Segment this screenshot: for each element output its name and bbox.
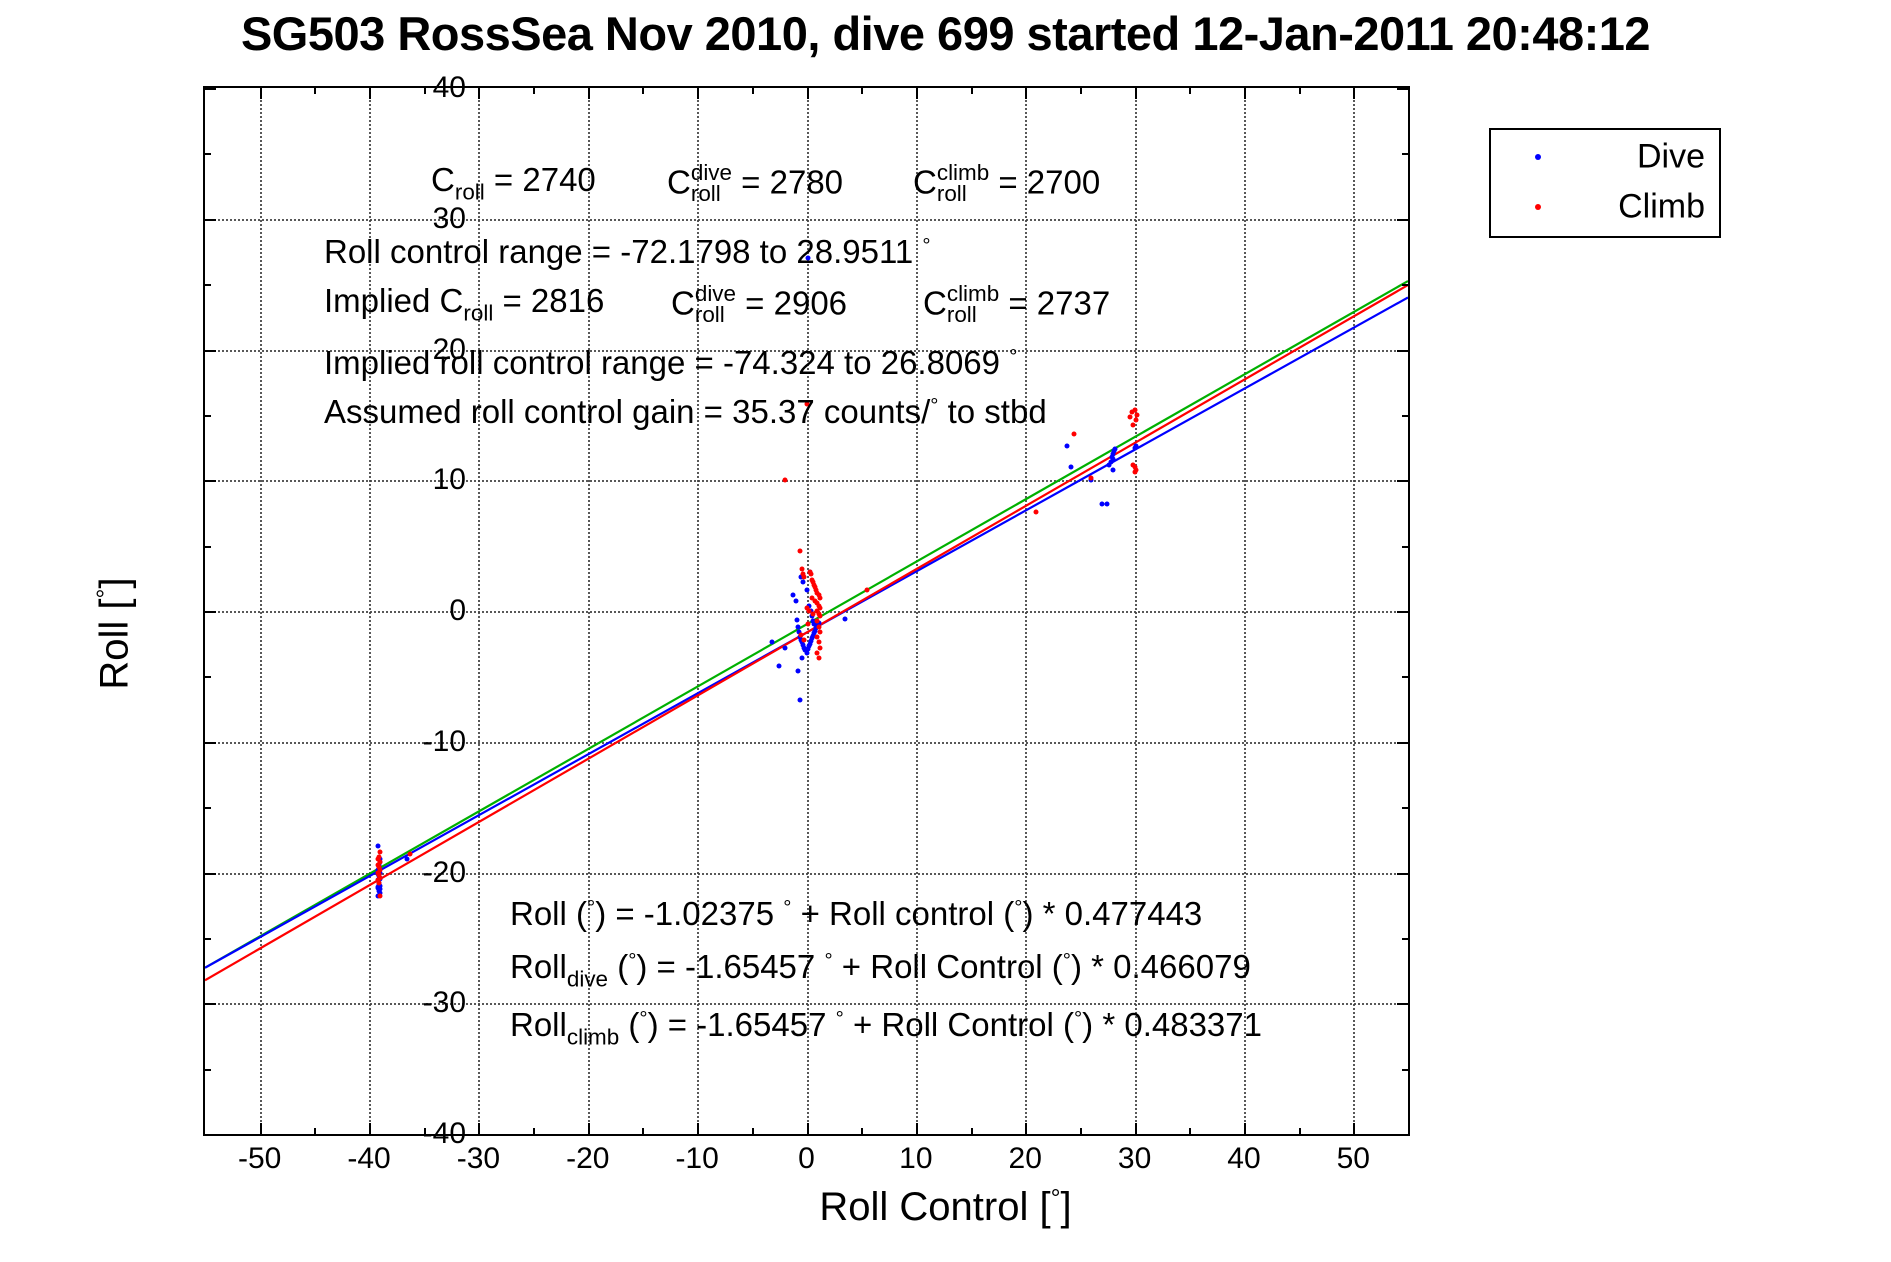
- x-axis-tick: [1244, 1123, 1246, 1134]
- data-point-dive: [1133, 444, 1138, 449]
- x-axis-tick: [697, 1123, 699, 1134]
- x-axis-tick: [807, 88, 809, 99]
- data-point-climb: [816, 656, 821, 661]
- eq-all-deg1: °: [587, 896, 595, 919]
- x-axis-minor-tick: [1080, 88, 1082, 94]
- x-axis-tick: [916, 88, 918, 99]
- y-axis-minor-tick: [205, 676, 211, 678]
- y-axis-tick: [1397, 350, 1408, 352]
- y-axis-label-text: Roll [: [93, 598, 137, 689]
- implied-c-climb-subscript: roll: [947, 304, 999, 327]
- implied-c-value: = 2816: [493, 282, 604, 319]
- implied-c-dive-subscript: roll: [695, 304, 736, 327]
- data-point-climb: [1072, 432, 1077, 437]
- c-roll-dive-symbol: C: [667, 164, 691, 201]
- annotation-c-roll: Croll = 2740: [431, 163, 596, 204]
- x-axis-minor-tick: [1189, 88, 1191, 94]
- data-point-dive: [793, 598, 798, 603]
- y-axis-tick: [205, 1003, 216, 1005]
- x-axis-tick: [260, 88, 262, 99]
- x-axis-tick: [369, 1123, 371, 1134]
- data-point-dive: [795, 669, 800, 674]
- data-point-dive: [782, 645, 787, 650]
- data-point-climb: [1131, 423, 1136, 428]
- y-axis-tick-label: -10: [423, 725, 466, 759]
- y-axis-minor-tick: [205, 153, 211, 155]
- annotation-equation-all: Roll (°) = -1.02375 ° + Roll control (°)…: [510, 897, 1202, 930]
- x-axis-label-close: ]: [1061, 1185, 1072, 1229]
- gain-text-suffix: to stbd: [938, 393, 1046, 430]
- eq-dive-subscript: dive: [567, 967, 608, 992]
- c-roll-climb-value: = 2700: [989, 164, 1100, 201]
- y-axis-tick: [205, 611, 216, 613]
- eq-dive-d: + Roll Control (: [833, 948, 1063, 985]
- data-point-dive: [377, 887, 382, 892]
- x-axis-minor-tick: [861, 1128, 863, 1134]
- data-point-dive: [1110, 457, 1115, 462]
- legend-label-climb: Climb: [1618, 188, 1705, 227]
- x-axis-tick: [1353, 88, 1355, 99]
- data-point-climb: [1034, 509, 1039, 514]
- c-roll-dive-subscript: roll: [691, 183, 732, 206]
- x-axis-minor-tick: [1299, 1128, 1301, 1134]
- eq-dive-deg2: °: [824, 949, 832, 972]
- x-axis-tick-label: 20: [1009, 1142, 1042, 1176]
- x-axis-tick: [697, 88, 699, 99]
- x-axis-tick: [1135, 88, 1137, 99]
- eq-climb-b: (: [619, 1006, 639, 1043]
- annotation-c-roll-climb: Cclimbroll = 2700: [913, 163, 1100, 207]
- eq-climb-deg2: °: [836, 1007, 844, 1030]
- y-axis-minor-tick: [1402, 676, 1408, 678]
- legend-marker-climb-icon: [1535, 204, 1541, 210]
- x-axis-label: Roll Control [°]: [0, 1185, 1891, 1230]
- implied-c-climb-value: = 2737: [999, 285, 1110, 322]
- x-axis-minor-tick: [1080, 1128, 1082, 1134]
- data-point-climb: [813, 598, 818, 603]
- data-point-climb: [376, 871, 381, 876]
- c-roll-symbol: C: [431, 161, 455, 198]
- annotation-roll-control-range: Roll control range = -72.1798 to 28.9511…: [324, 235, 931, 268]
- x-axis-minor-tick: [1299, 88, 1301, 94]
- y-axis-tick: [205, 873, 216, 875]
- x-axis-tick: [1353, 1123, 1355, 1134]
- y-axis-minor-tick: [1402, 546, 1408, 548]
- x-axis-tick: [588, 1123, 590, 1134]
- x-axis-tick-label: -30: [457, 1142, 500, 1176]
- plot-area: Croll = 2740 Cdiveroll = 2780 Cclimbroll…: [203, 86, 1410, 1136]
- x-axis-minor-tick: [314, 1128, 316, 1134]
- y-axis-tick-label: -20: [423, 856, 466, 890]
- data-point-dive: [1110, 467, 1115, 472]
- c-roll-climb-symbol: C: [913, 164, 937, 201]
- y-axis-minor-tick: [205, 284, 211, 286]
- data-point-climb: [805, 622, 810, 627]
- implied-c-dive-symbol: C: [671, 285, 695, 322]
- c-roll-value: = 2740: [485, 161, 596, 198]
- eq-dive-deg3: °: [1063, 949, 1071, 972]
- eq-climb-subscript: climb: [567, 1025, 619, 1050]
- x-axis-minor-tick: [533, 1128, 535, 1134]
- data-point-climb: [799, 632, 804, 637]
- x-axis-tick: [478, 88, 480, 99]
- implied-c-prefix: Implied C: [324, 282, 463, 319]
- data-point-climb: [782, 478, 787, 483]
- y-axis-minor-tick: [1402, 284, 1408, 286]
- x-axis-minor-tick: [861, 88, 863, 94]
- legend-item-climb[interactable]: Climb: [1491, 184, 1719, 230]
- implied-c-dive-script: diveroll: [695, 283, 736, 327]
- annotation-gain: Assumed roll control gain = 35.37 counts…: [324, 395, 1047, 428]
- plot-inner: Croll = 2740 Cdiveroll = 2780 Cclimbroll…: [205, 88, 1408, 1134]
- data-point-climb: [1133, 418, 1138, 423]
- eq-climb-c: ) = -1.65457: [648, 1006, 836, 1043]
- data-point-dive: [769, 640, 774, 645]
- x-axis-minor-tick: [533, 88, 535, 94]
- eq-climb-a: Roll: [510, 1006, 567, 1043]
- eq-all-a: Roll (: [510, 895, 587, 932]
- y-axis-minor-tick: [1402, 415, 1408, 417]
- y-axis-tick: [205, 742, 216, 744]
- y-axis-tick: [205, 350, 216, 352]
- y-axis-tick: [205, 219, 216, 221]
- data-point-climb: [377, 894, 382, 899]
- x-axis-tick-label: 0: [798, 1142, 815, 1176]
- gain-text-prefix: Assumed roll control gain = 35.37 counts…: [324, 393, 930, 430]
- y-axis-tick: [1397, 742, 1408, 744]
- legend-label-dive: Dive: [1637, 138, 1705, 177]
- x-axis-minor-tick: [642, 1128, 644, 1134]
- annotation-equation-dive: Rolldive (°) = -1.65457 ° + Roll Control…: [510, 950, 1251, 991]
- x-axis-tick: [916, 1123, 918, 1134]
- y-axis-label: Roll [°]: [93, 484, 138, 784]
- data-point-climb: [864, 588, 869, 593]
- y-axis-minor-tick: [205, 807, 211, 809]
- data-point-dive: [794, 618, 799, 623]
- y-axis-tick: [1397, 873, 1408, 875]
- data-point-dive: [1064, 444, 1069, 449]
- x-axis-degree-symbol: °: [1051, 1185, 1061, 1212]
- data-point-dive: [1099, 501, 1104, 506]
- eq-climb-d: + Roll Control (: [844, 1006, 1074, 1043]
- data-point-climb: [802, 575, 807, 580]
- x-axis-tick-label: -10: [675, 1142, 718, 1176]
- x-axis-minor-tick: [642, 88, 644, 94]
- x-axis-label-text: Roll Control [: [819, 1185, 1050, 1229]
- x-axis-tick-label: 50: [1337, 1142, 1370, 1176]
- data-point-dive: [797, 697, 802, 702]
- annotation-implied-c-climb: Cclimbroll = 2737: [923, 284, 1110, 328]
- x-axis-tick: [1025, 1123, 1027, 1134]
- y-axis-minor-tick: [1402, 807, 1408, 809]
- annotation-c-roll-dive: Cdiveroll = 2780: [667, 163, 843, 207]
- y-axis-minor-tick: [1402, 1069, 1408, 1071]
- x-axis-minor-tick: [752, 1128, 754, 1134]
- y-axis-tick: [1397, 219, 1408, 221]
- data-point-climb: [1088, 475, 1093, 480]
- roll-control-range-text: Roll control range = -72.1798 to 28.9511: [324, 233, 922, 270]
- x-axis-tick: [478, 1123, 480, 1134]
- y-axis-degree-symbol: °: [93, 589, 120, 599]
- y-axis-tick-label: 30: [433, 202, 466, 236]
- legend-marker-dive-icon: [1535, 154, 1541, 160]
- data-point-dive: [777, 663, 782, 668]
- y-axis-label-close: ]: [93, 577, 137, 588]
- y-axis-tick: [1397, 480, 1408, 482]
- legend[interactable]: Dive Climb: [1489, 128, 1721, 238]
- x-axis-minor-tick: [1189, 1128, 1191, 1134]
- implied-range-degree: °: [1009, 345, 1017, 368]
- data-point-climb: [376, 880, 381, 885]
- eq-dive-c: ) = -1.65457: [636, 948, 824, 985]
- data-point-climb: [1134, 412, 1139, 417]
- annotation-implied-range: Implied roll control range = -74.324 to …: [324, 346, 1017, 379]
- y-axis-tick-label: 20: [433, 333, 466, 367]
- data-point-climb: [802, 637, 807, 642]
- eq-dive-a: Roll: [510, 948, 567, 985]
- x-axis-tick-label: 10: [899, 1142, 932, 1176]
- y-axis-minor-tick: [205, 1069, 211, 1071]
- eq-climb-e: ) * 0.483371: [1082, 1006, 1262, 1043]
- y-axis-minor-tick: [1402, 153, 1408, 155]
- eq-dive-b: (: [608, 948, 628, 985]
- annotation-implied-c-dive: Cdiveroll = 2906: [671, 284, 847, 328]
- data-point-dive: [1112, 446, 1117, 451]
- x-axis-tick: [1244, 88, 1246, 99]
- y-axis-tick-label: 0: [449, 594, 466, 628]
- x-axis-minor-tick: [752, 88, 754, 94]
- data-point-climb: [1128, 415, 1133, 420]
- y-axis-tick-label: -30: [423, 986, 466, 1020]
- data-point-dive: [800, 656, 805, 661]
- x-axis-tick: [369, 88, 371, 99]
- data-point-dive: [1105, 501, 1110, 506]
- c-roll-dive-script: diveroll: [691, 162, 732, 206]
- x-axis-tick: [588, 88, 590, 99]
- x-axis-tick: [1135, 1123, 1137, 1134]
- data-point-dive: [1107, 462, 1112, 467]
- x-axis-minor-tick: [971, 88, 973, 94]
- eq-all-c: + Roll control (: [791, 895, 1014, 932]
- x-axis-tick-label: 40: [1227, 1142, 1260, 1176]
- chart-page: SG503 RossSea Nov 2010, dive 699 started…: [0, 0, 1891, 1262]
- x-axis-tick-label: -40: [347, 1142, 390, 1176]
- implied-c-climb-script: climbroll: [947, 283, 999, 327]
- data-point-climb: [811, 611, 816, 616]
- y-axis-tick: [205, 88, 216, 90]
- y-axis-tick-label: 10: [433, 463, 466, 497]
- y-axis-tick: [1397, 1003, 1408, 1005]
- c-roll-climb-subscript: roll: [937, 183, 989, 206]
- implied-c-dive-value: = 2906: [736, 285, 847, 322]
- c-roll-climb-script: climbroll: [937, 162, 989, 206]
- roll-control-range-degree: °: [922, 234, 930, 257]
- x-axis-tick-label: -20: [566, 1142, 609, 1176]
- x-axis-tick: [260, 1123, 262, 1134]
- data-point-dive: [804, 588, 809, 593]
- data-point-climb: [407, 852, 412, 857]
- y-axis-minor-tick: [205, 938, 211, 940]
- y-axis-minor-tick: [1402, 938, 1408, 940]
- eq-dive-e: ) * 0.466079: [1071, 948, 1251, 985]
- y-axis-tick-label: 40: [433, 71, 466, 105]
- x-axis-tick-label: -50: [238, 1142, 281, 1176]
- data-point-climb: [375, 857, 380, 862]
- annotation-implied-c-roll: Implied Croll = 2816: [324, 284, 604, 325]
- implied-range-text: Implied roll control range = -74.324 to …: [324, 344, 1009, 381]
- y-axis-minor-tick: [205, 546, 211, 548]
- implied-c-climb-symbol: C: [923, 285, 947, 322]
- y-axis-minor-tick: [205, 415, 211, 417]
- data-point-climb: [817, 595, 822, 600]
- y-axis-tick: [205, 480, 216, 482]
- data-point-dive: [842, 616, 847, 621]
- data-point-dive: [405, 857, 410, 862]
- data-point-climb: [817, 629, 822, 634]
- y-axis-tick: [1397, 88, 1408, 90]
- annotation-equation-climb: Rollclimb (°) = -1.65457 ° + Roll Contro…: [510, 1008, 1262, 1049]
- x-axis-tick: [807, 1123, 809, 1134]
- x-axis-minor-tick: [971, 1128, 973, 1134]
- fit-line-climb: [205, 285, 1408, 980]
- y-axis-tick: [1397, 611, 1408, 613]
- data-point-dive: [801, 580, 806, 585]
- data-point-climb: [817, 614, 822, 619]
- eq-climb-deg1: °: [639, 1007, 647, 1030]
- x-axis-tick-label: 30: [1118, 1142, 1151, 1176]
- data-point-climb: [1132, 470, 1137, 475]
- data-point-dive: [1069, 465, 1074, 470]
- data-point-climb: [1131, 462, 1136, 467]
- x-axis-tick: [1025, 88, 1027, 99]
- implied-c-subscript: roll: [463, 301, 493, 326]
- legend-item-dive[interactable]: Dive: [1491, 134, 1719, 180]
- page-title: SG503 RossSea Nov 2010, dive 699 started…: [0, 6, 1891, 61]
- c-roll-dive-value: = 2780: [732, 164, 843, 201]
- x-axis-minor-tick: [314, 88, 316, 94]
- x-axis-minor-tick: [424, 88, 426, 94]
- data-point-climb: [817, 645, 822, 650]
- eq-climb-deg3: °: [1074, 1007, 1082, 1030]
- data-point-climb: [797, 548, 802, 553]
- eq-all-d: ) * 0.477443: [1022, 895, 1202, 932]
- eq-all-b: ) = -1.02375: [595, 895, 783, 932]
